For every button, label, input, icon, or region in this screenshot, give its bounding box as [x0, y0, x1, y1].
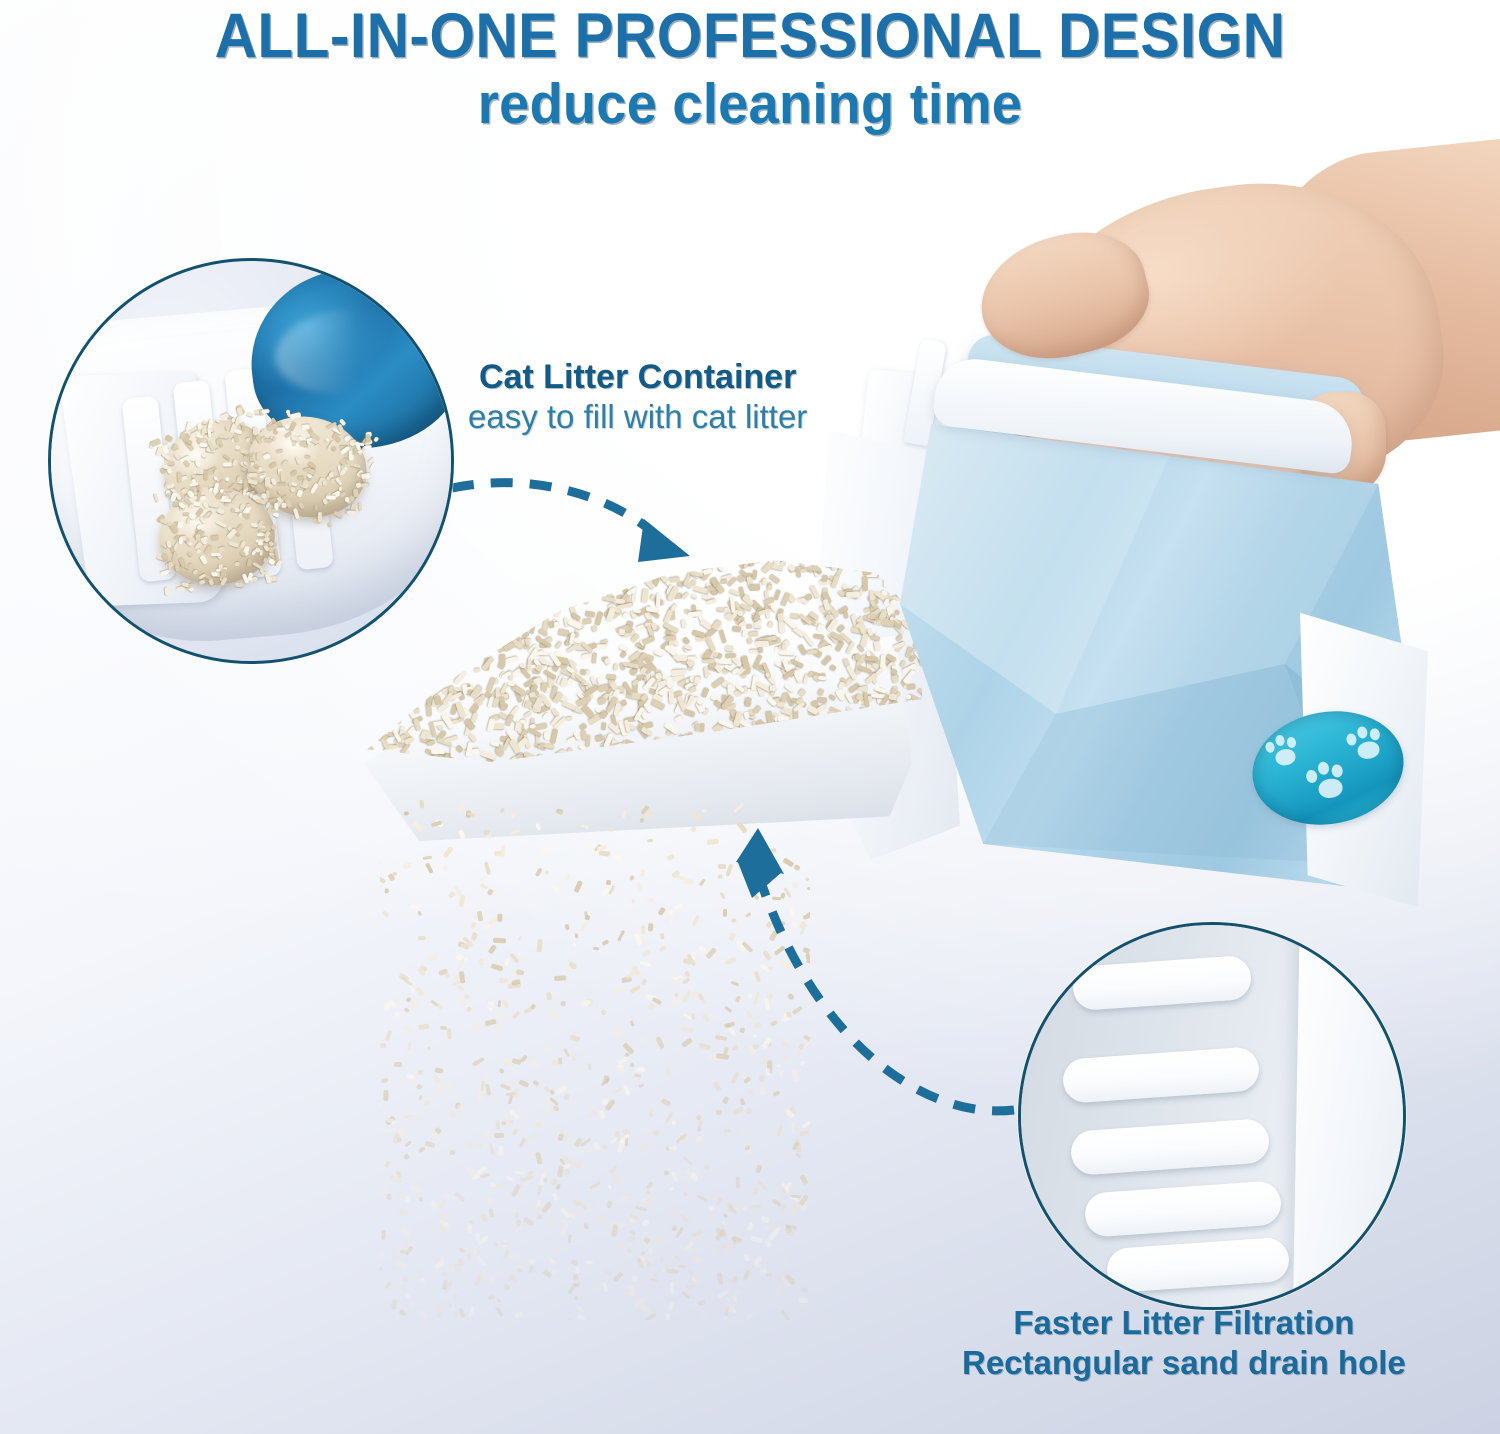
falling-litter-pellet: [459, 1247, 466, 1253]
falling-litter-stream: [380, 800, 810, 1320]
litter-pellet: [495, 552, 505, 553]
litter-pellet: [485, 563, 491, 573]
litter-pellet: [433, 573, 445, 585]
litter-pellet: [572, 569, 577, 578]
litter-pellet: [398, 633, 406, 640]
litter-pellet: [356, 743, 359, 751]
falling-litter-pellet: [457, 1103, 467, 1111]
falling-litter-pellet: [385, 1030, 392, 1042]
falling-litter-pellet: [641, 950, 650, 957]
falling-litter-pellet: [564, 924, 570, 931]
falling-litter-pellet: [380, 1101, 383, 1107]
litter-pellet: [360, 637, 366, 645]
litter-pellet: [720, 579, 727, 584]
falling-litter-pellet: [783, 857, 795, 867]
litter-pellet: [366, 669, 374, 684]
falling-litter-pellet: [431, 1074, 441, 1083]
falling-litter-pellet: [633, 1073, 641, 1078]
falling-litter-pellet: [525, 1179, 531, 1186]
litter-pellet: [522, 618, 528, 624]
litter-pellet: [597, 698, 606, 705]
litter-pellet: [755, 641, 769, 647]
litter-pellet: [630, 566, 637, 577]
paw-print-icon: [1260, 730, 1306, 776]
falling-litter-pellet: [731, 981, 739, 987]
litter-pellet: [196, 423, 201, 429]
litter-pellet: [396, 624, 408, 636]
falling-litter-pellet: [481, 924, 489, 930]
litter-pellet: [770, 604, 778, 612]
litter-pellet: [514, 562, 525, 569]
falling-litter-pellet: [725, 957, 737, 965]
falling-litter-pellet: [472, 1057, 485, 1067]
falling-litter-pellet: [426, 1046, 431, 1051]
falling-litter-pellet: [700, 1311, 712, 1320]
falling-litter-pellet: [750, 1204, 762, 1209]
litter-pellet: [324, 437, 329, 442]
falling-litter-pellet: [668, 1301, 674, 1311]
falling-litter-pellet: [752, 1034, 757, 1038]
litter-pellet: [445, 614, 454, 627]
litter-pellet: [745, 698, 752, 708]
falling-litter-pellet: [660, 1097, 671, 1106]
litter-pellet: [475, 620, 487, 631]
litter-pellet: [770, 685, 776, 691]
falling-litter-pellet: [600, 1009, 607, 1016]
litter-pellet: [588, 587, 600, 592]
falling-litter-pellet: [583, 839, 592, 848]
litter-pellet: [681, 592, 690, 601]
litter-pellet: [424, 614, 433, 620]
litter-pellet: [222, 462, 232, 466]
falling-litter-pellet: [571, 835, 576, 840]
litter-pellet: [201, 452, 207, 458]
falling-litter-pellet: [660, 932, 665, 939]
litter-pellet: [471, 712, 478, 722]
falling-litter-pellet: [692, 1014, 695, 1020]
litter-pellet: [896, 610, 900, 616]
litter-pellet: [596, 561, 608, 571]
litter-pellet: [798, 552, 809, 557]
falling-litter-pellet: [402, 1025, 414, 1035]
litter-pellet: [502, 581, 509, 587]
litter-pellet: [277, 488, 283, 495]
litter-pellet: [703, 559, 711, 568]
litter-pellet: [477, 593, 485, 601]
falling-litter-pellet: [683, 977, 691, 984]
litter-pellet: [351, 463, 361, 468]
litter-pellet: [384, 621, 397, 627]
falling-litter-pellet: [584, 914, 590, 920]
litter-pellet: [195, 534, 201, 541]
litter-pellet: [397, 677, 410, 688]
litter-pellet: [727, 684, 733, 694]
falling-litter-pellet: [630, 985, 641, 994]
litter-pellet: [301, 424, 310, 429]
litter-pellet: [242, 489, 246, 496]
litter-pellet: [813, 634, 824, 640]
litter-pellet: [629, 556, 636, 562]
falling-litter-pellet: [563, 1048, 570, 1057]
litter-pellet: [445, 571, 452, 578]
falling-litter-pellet: [799, 1060, 805, 1066]
falling-litter-pellet: [706, 947, 718, 959]
litter-pellet: [610, 553, 619, 566]
litter-pellet: [690, 592, 697, 599]
falling-litter-pellet: [575, 933, 579, 938]
falling-litter-pellet: [560, 1001, 565, 1006]
litter-pellet: [601, 722, 606, 730]
litter-pellet: [358, 688, 363, 701]
falling-litter-pellet: [480, 884, 489, 891]
litter-pellet: [562, 700, 577, 710]
falling-litter-pellet: [775, 1283, 781, 1295]
litter-pellet: [510, 559, 517, 567]
paw-print-icon: [1341, 722, 1390, 771]
litter-pellet: [253, 426, 259, 435]
litter-pellet: [381, 684, 389, 691]
litter-pellet: [535, 565, 549, 574]
litter-pellet: [280, 471, 285, 481]
falling-litter-pellet: [403, 1154, 410, 1161]
falling-litter-pellet: [629, 1218, 635, 1225]
callout-subtitle: Rectangular sand drain hole: [962, 1343, 1406, 1383]
falling-litter-pellet: [573, 1163, 582, 1168]
falling-litter-pellet: [576, 1148, 584, 1154]
falling-litter-pellet: [571, 1053, 577, 1061]
falling-litter-pellet: [769, 1021, 777, 1028]
falling-litter-pellet: [666, 1268, 679, 1274]
litter-pellet: [725, 644, 734, 651]
falling-litter-pellet: [786, 1231, 793, 1236]
litter-pellet: [454, 567, 458, 575]
litter-pellet: [472, 564, 477, 573]
litter-pellet: [366, 625, 378, 641]
litter-pellet: [178, 537, 183, 545]
litter-pellet: [702, 659, 715, 664]
litter-pellet: [443, 630, 453, 640]
falling-litter-pellet: [467, 1254, 470, 1260]
litter-pellet: [187, 550, 194, 557]
litter-pellet: [492, 575, 498, 582]
litter-pellet: [765, 590, 770, 598]
falling-litter-pellet: [546, 991, 552, 1000]
litter-pellet: [397, 704, 407, 718]
falling-litter-pellet: [407, 1042, 411, 1051]
litter-pellet: [606, 673, 617, 679]
falling-litter-pellet: [510, 813, 516, 820]
litter-pellet: [346, 510, 356, 515]
litter-pellet: [555, 552, 563, 560]
litter-pellet: [535, 556, 550, 563]
litter-pellet: [557, 628, 569, 636]
falling-litter-pellet: [408, 1001, 420, 1007]
litter-pellet: [669, 689, 675, 704]
litter-pellet: [194, 460, 201, 469]
litter-pellet: [742, 552, 753, 554]
falling-litter-pellet: [583, 1223, 589, 1230]
litter-pellet: [418, 608, 423, 621]
litter-pellet: [664, 552, 671, 558]
falling-litter-pellet: [384, 888, 389, 894]
falling-litter-pellet: [536, 1152, 543, 1165]
litter-pellet: [361, 646, 370, 651]
falling-litter-pellet: [468, 1220, 473, 1225]
falling-litter-pellet: [581, 824, 590, 830]
litter-pellet: [365, 702, 373, 713]
litter-pellet: [362, 717, 368, 723]
litter-pellet: [366, 434, 372, 443]
falling-litter-pellet: [574, 1296, 579, 1301]
falling-litter-pellet: [458, 1307, 465, 1318]
falling-litter-pellet: [746, 865, 751, 872]
litter-pellet: [356, 700, 366, 709]
falling-litter-pellet: [537, 1215, 543, 1220]
falling-litter-pellet: [764, 1224, 776, 1231]
litter-pellet: [363, 684, 374, 700]
litter-pellet: [289, 422, 297, 433]
inset-scoop-edge: [1292, 922, 1406, 1310]
falling-litter-pellet: [386, 1194, 392, 1200]
falling-litter-pellet: [380, 1188, 389, 1193]
falling-litter-pellet: [458, 803, 464, 813]
litter-pellet: [334, 477, 341, 485]
litter-pellet: [490, 585, 500, 593]
litter-pellet: [784, 683, 794, 692]
falling-litter-pellet: [397, 1207, 409, 1217]
litter-pellet: [507, 680, 515, 686]
falling-litter-pellet: [459, 895, 466, 908]
falling-litter-pellet: [677, 1265, 685, 1270]
litter-pellet: [706, 599, 716, 605]
falling-litter-pellet: [486, 834, 492, 841]
falling-litter-pellet: [782, 1053, 789, 1059]
falling-litter-pellet: [589, 1181, 601, 1190]
falling-litter-pellet: [483, 1130, 491, 1138]
falling-litter-pellet: [403, 1007, 410, 1013]
litter-pellet: [672, 670, 686, 676]
litter-pellet: [424, 623, 434, 630]
falling-litter-pellet: [698, 878, 705, 886]
litter-pellet: [422, 629, 430, 641]
litter-pellet: [177, 521, 183, 529]
falling-litter-pellet: [621, 810, 627, 818]
litter-pellet: [444, 568, 452, 574]
falling-litter-pellet: [457, 829, 466, 840]
falling-litter-pellet: [639, 818, 644, 824]
falling-litter-pellet: [623, 1084, 631, 1096]
litter-pellet: [454, 569, 466, 575]
falling-litter-pellet: [380, 875, 386, 884]
litter-pellet: [536, 552, 546, 559]
falling-litter-pellet: [418, 1069, 424, 1075]
falling-litter-pellet: [612, 1271, 623, 1282]
litter-pellet: [235, 445, 241, 450]
litter-pellet: [681, 620, 687, 629]
falling-litter-pellet: [666, 1065, 671, 1076]
litter-pellet: [508, 599, 513, 608]
litter-pellet: [509, 609, 517, 617]
litter-pellet: [356, 749, 357, 760]
falling-litter-pellet: [419, 1277, 425, 1283]
falling-litter-pellet: [776, 1064, 781, 1067]
litter-pellet: [473, 646, 486, 657]
falling-litter-pellet: [553, 1247, 562, 1252]
litter-pellet: [623, 574, 631, 584]
falling-litter-pellet: [658, 907, 666, 916]
falling-litter-pellet: [409, 1079, 417, 1086]
falling-litter-pellet: [450, 1303, 454, 1311]
falling-litter-pellet: [512, 1128, 519, 1136]
litter-pellet: [243, 456, 247, 461]
litter-pellet: [196, 470, 202, 476]
falling-litter-pellet: [612, 1224, 619, 1236]
litter-pellet: [526, 587, 530, 593]
falling-litter-pellet: [442, 846, 453, 859]
falling-litter-pellet: [454, 1293, 459, 1297]
falling-litter-pellet: [617, 1067, 624, 1073]
litter-pellet: [331, 445, 337, 451]
litter-pellet: [642, 588, 650, 603]
falling-litter-pellet: [384, 1160, 391, 1168]
litter-pellet: [556, 555, 562, 561]
litter-pellet: [460, 619, 469, 632]
litter-pellet: [622, 561, 632, 572]
falling-litter-pellet: [795, 1049, 802, 1056]
falling-litter-pellet: [787, 993, 794, 1000]
falling-litter-pellet: [504, 958, 510, 966]
falling-litter-pellet: [669, 1146, 677, 1150]
litter-pellet: [477, 608, 491, 621]
litter-pellet: [882, 620, 894, 627]
litter-pellet: [701, 687, 710, 699]
litter-pellet: [404, 665, 412, 671]
litter-pellet: [356, 635, 364, 647]
litter-pellet: [369, 686, 382, 691]
falling-litter-pellet: [639, 1083, 644, 1088]
litter-pellet: [462, 574, 474, 585]
falling-litter-pellet: [645, 1181, 653, 1189]
falling-litter-pellet: [445, 1082, 452, 1091]
falling-litter-pellet: [480, 1173, 491, 1179]
litter-pellet: [716, 607, 724, 612]
falling-litter-pellet: [603, 1306, 607, 1310]
falling-litter-pellet: [491, 963, 504, 972]
litter-pellet: [613, 557, 620, 564]
litter-pellet: [420, 670, 429, 678]
litter-pellet: [171, 443, 179, 451]
falling-litter-pellet: [681, 1027, 694, 1033]
falling-litter-pellet: [520, 1055, 528, 1063]
falling-litter-pellet: [498, 1145, 503, 1155]
litter-pellet: [462, 649, 467, 657]
falling-litter-pellet: [734, 995, 741, 1003]
litter-pellet: [378, 663, 387, 674]
falling-litter-pellet: [789, 907, 795, 916]
litter-pellet: [429, 575, 436, 581]
litter-pellet: [291, 442, 296, 447]
litter-pellet: [477, 620, 489, 635]
falling-litter-pellet: [629, 1020, 634, 1027]
falling-litter-pellet: [637, 882, 643, 891]
litter-pellet: [486, 580, 495, 595]
litter-pellet: [452, 601, 465, 610]
litter-pellet: [543, 584, 557, 597]
litter-pellet: [542, 682, 548, 691]
falling-litter-pellet: [402, 862, 411, 870]
litter-pellet: [455, 745, 464, 754]
falling-litter-pellet: [791, 1069, 799, 1082]
litter-pellet: [829, 664, 837, 671]
falling-litter-pellet: [645, 1188, 650, 1194]
falling-litter-pellet: [394, 1260, 407, 1268]
litter-pellet: [361, 483, 369, 487]
falling-litter-pellet: [437, 1211, 448, 1220]
litter-pellet: [701, 723, 706, 733]
litter-pellet: [445, 552, 456, 559]
falling-litter-pellet: [680, 1135, 685, 1140]
litter-pellet: [549, 552, 556, 558]
falling-litter-pellet: [640, 869, 645, 877]
litter-pellet: [618, 552, 630, 553]
litter-pellet: [609, 561, 619, 578]
litter-pellet: [296, 489, 303, 497]
falling-litter-pellet: [514, 1171, 523, 1176]
falling-litter-pellet: [562, 1219, 567, 1224]
falling-litter-pellet: [380, 1251, 384, 1257]
litter-pellet: [473, 669, 480, 674]
litter-pellet: [621, 555, 631, 563]
litter-pellet: [446, 595, 458, 607]
litter-pellet: [539, 563, 552, 576]
litter-pellet: [742, 630, 748, 637]
litter-pellet: [318, 512, 322, 522]
falling-litter-pellet: [506, 878, 515, 882]
litter-pellet: [365, 688, 371, 701]
falling-litter-pellet: [686, 1285, 694, 1289]
litter-pellet: [521, 552, 528, 559]
litter-pellet: [510, 573, 521, 579]
litter-pellet: [218, 546, 226, 552]
falling-litter-pellet: [549, 884, 559, 894]
litter-pellet: [208, 501, 219, 507]
litter-pellet: [753, 552, 759, 560]
litter-pellet: [544, 732, 551, 741]
litter-pellet: [478, 613, 490, 623]
litter-pellet: [385, 626, 395, 640]
falling-litter-pellet: [567, 1235, 572, 1244]
litter-pellet: [363, 664, 374, 680]
falling-litter-pellet: [732, 1044, 740, 1051]
falling-litter-pellet: [435, 1067, 444, 1074]
litter-pellet: [588, 552, 596, 557]
litter-pellet: [680, 559, 689, 569]
falling-litter-pellet: [418, 936, 426, 940]
litter-pellet: [520, 594, 528, 602]
falling-litter-pellet: [766, 1272, 773, 1276]
litter-pellet: [192, 569, 199, 576]
falling-litter-pellet: [669, 1281, 674, 1293]
falling-litter-pellet: [550, 1089, 555, 1095]
falling-litter-pellet: [416, 1269, 423, 1274]
litter-pellet: [495, 582, 501, 588]
litter-pellet: [165, 587, 170, 596]
falling-litter-pellet: [651, 1278, 658, 1283]
litter-pellet: [503, 642, 515, 652]
litter-pellet: [544, 596, 552, 604]
litter-pellet: [213, 469, 220, 476]
falling-litter-pellet: [718, 864, 726, 869]
